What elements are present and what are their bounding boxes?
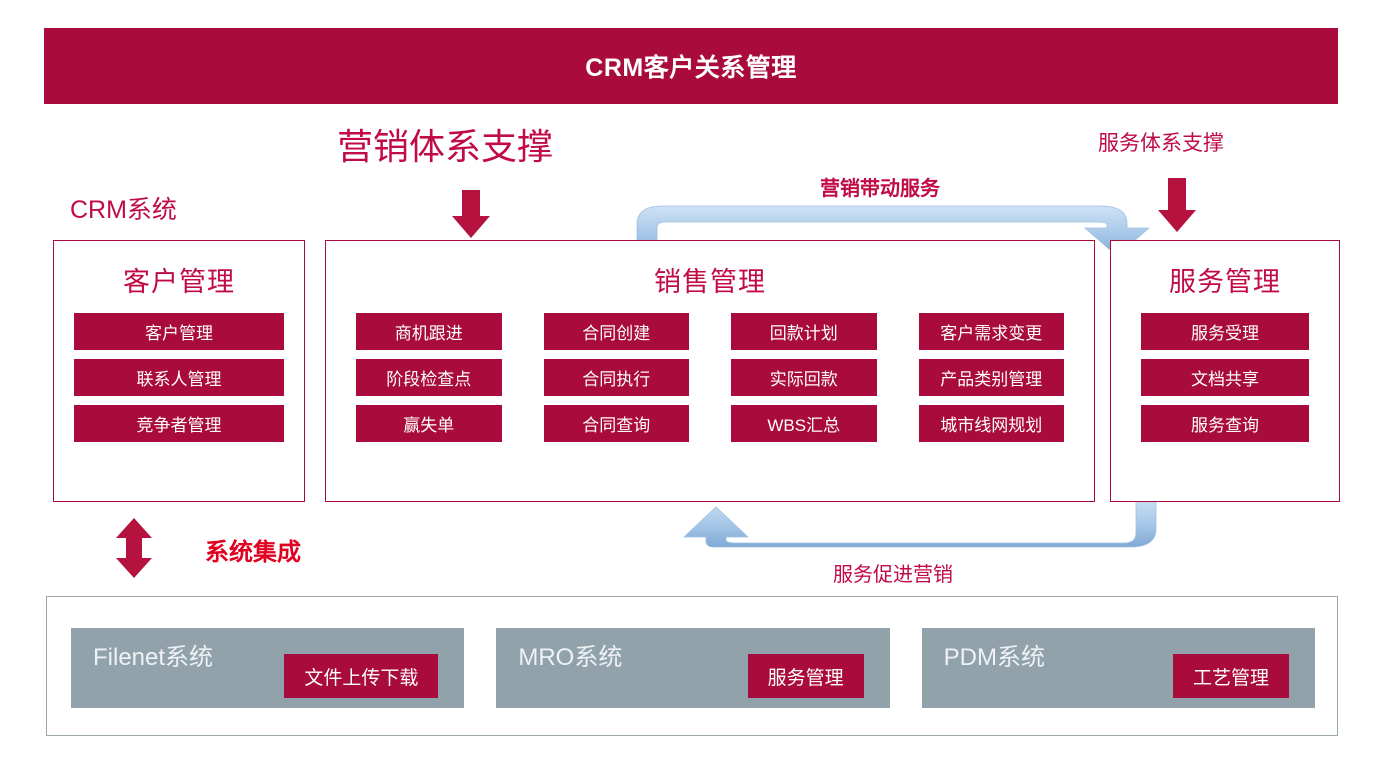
panel-customer-management: 客户管理 客户管理 联系人管理 竞争者管理 — [53, 240, 305, 502]
label-service-support: 服务体系支撑 — [1098, 127, 1224, 157]
chip-sales-7[interactable]: 产品类别管理 — [919, 359, 1065, 396]
panel-external-systems: Filenet系统 文件上传下载 MRO系统 服务管理 PDM系统 工艺管理 — [46, 596, 1338, 736]
system-box-filenet: Filenet系统 文件上传下载 — [71, 628, 464, 708]
chip-sales-4[interactable]: 阶段检查点 — [356, 359, 502, 396]
chip-service-2[interactable]: 服务查询 — [1141, 405, 1309, 442]
panel-title-service: 服务管理 — [1111, 260, 1339, 299]
chip-sales-11[interactable]: 城市线网规划 — [919, 405, 1065, 442]
label-marketing-drives-service: 营销带动服务 — [820, 172, 940, 201]
chip-sales-3[interactable]: 客户需求变更 — [919, 313, 1065, 350]
chip-sales-9[interactable]: 合同查询 — [544, 405, 690, 442]
diagram-canvas: CRM客户关系管理 CRM系统 营销体系支撑 服务体系支撑 营销带动服务 服务促… — [0, 0, 1380, 768]
system-module-filenet[interactable]: 文件上传下载 — [284, 654, 438, 698]
curved-arrow-icon-service-promotes-marketing — [640, 495, 1180, 565]
chip-customer-0[interactable]: 客户管理 — [74, 313, 284, 350]
system-module-mro[interactable]: 服务管理 — [748, 654, 864, 698]
chip-sales-1[interactable]: 合同创建 — [544, 313, 690, 350]
arrow-updown-icon-integration — [111, 518, 157, 578]
panel-sales-management: 销售管理 商机跟进 合同创建 回款计划 客户需求变更 阶段检查点 合同执行 实际… — [325, 240, 1095, 502]
page-title-bar: CRM客户关系管理 — [44, 28, 1338, 104]
chip-sales-10[interactable]: WBS汇总 — [731, 405, 877, 442]
chip-sales-0[interactable]: 商机跟进 — [356, 313, 502, 350]
label-crm-system: CRM系统 — [70, 190, 177, 226]
chip-customer-1[interactable]: 联系人管理 — [74, 359, 284, 396]
chip-service-1[interactable]: 文档共享 — [1141, 359, 1309, 396]
label-marketing-support: 营销体系支撑 — [337, 118, 553, 170]
panel-service-management: 服务管理 服务受理 文档共享 服务查询 — [1110, 240, 1340, 502]
system-name-mro: MRO系统 — [518, 637, 622, 672]
system-box-pdm: PDM系统 工艺管理 — [922, 628, 1315, 708]
chip-sales-6[interactable]: 实际回款 — [731, 359, 877, 396]
arrow-down-icon-marketing — [451, 190, 491, 238]
chip-customer-2[interactable]: 竞争者管理 — [74, 405, 284, 442]
page-title: CRM客户关系管理 — [585, 48, 796, 84]
chip-sales-8[interactable]: 赢失单 — [356, 405, 502, 442]
label-system-integration: 系统集成 — [205, 532, 301, 567]
chip-sales-5[interactable]: 合同执行 — [544, 359, 690, 396]
system-module-pdm[interactable]: 工艺管理 — [1173, 654, 1289, 698]
chip-service-0[interactable]: 服务受理 — [1141, 313, 1309, 350]
panel-title-sales: 销售管理 — [326, 260, 1094, 299]
system-name-filenet: Filenet系统 — [93, 637, 213, 672]
chip-sales-2[interactable]: 回款计划 — [731, 313, 877, 350]
system-name-pdm: PDM系统 — [944, 637, 1045, 672]
system-box-mro: MRO系统 服务管理 — [496, 628, 889, 708]
panel-title-customer: 客户管理 — [54, 260, 304, 299]
